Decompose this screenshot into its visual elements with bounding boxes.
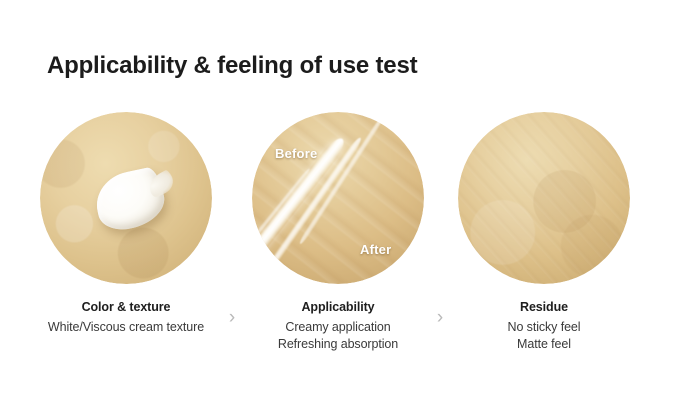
caption-title: Color & texture: [22, 300, 230, 314]
swatch-image-applicability: Before After: [252, 112, 424, 284]
caption-title: Applicability: [234, 300, 442, 314]
caption-residue: Residue No sticky feel Matte feel: [440, 300, 648, 353]
caption-line: Refreshing absorption: [234, 336, 442, 353]
skin-texture-overlay: [458, 112, 630, 284]
panel-applicability: Before After Applicability Creamy applic…: [234, 112, 442, 362]
page-title: Applicability & feeling of use test: [47, 52, 417, 80]
swatch-image-residue: [458, 112, 630, 284]
panels-row: Color & texture White/Viscous cream text…: [0, 112, 679, 362]
caption-color-texture: Color & texture White/Viscous cream text…: [22, 300, 230, 336]
panel-residue: Residue No sticky feel Matte feel: [440, 112, 648, 362]
panel-color-texture: Color & texture White/Viscous cream text…: [22, 112, 230, 362]
caption-line: White/Viscous cream texture: [22, 319, 230, 336]
infographic-page: Applicability & feeling of use test Colo…: [0, 0, 679, 406]
caption-applicability: Applicability Creamy application Refresh…: [234, 300, 442, 353]
caption-title: Residue: [440, 300, 648, 314]
caption-line: No sticky feel: [440, 319, 648, 336]
swatch-image-color-texture: [40, 112, 212, 284]
caption-line: Matte feel: [440, 336, 648, 353]
caption-line: Creamy application: [234, 319, 442, 336]
